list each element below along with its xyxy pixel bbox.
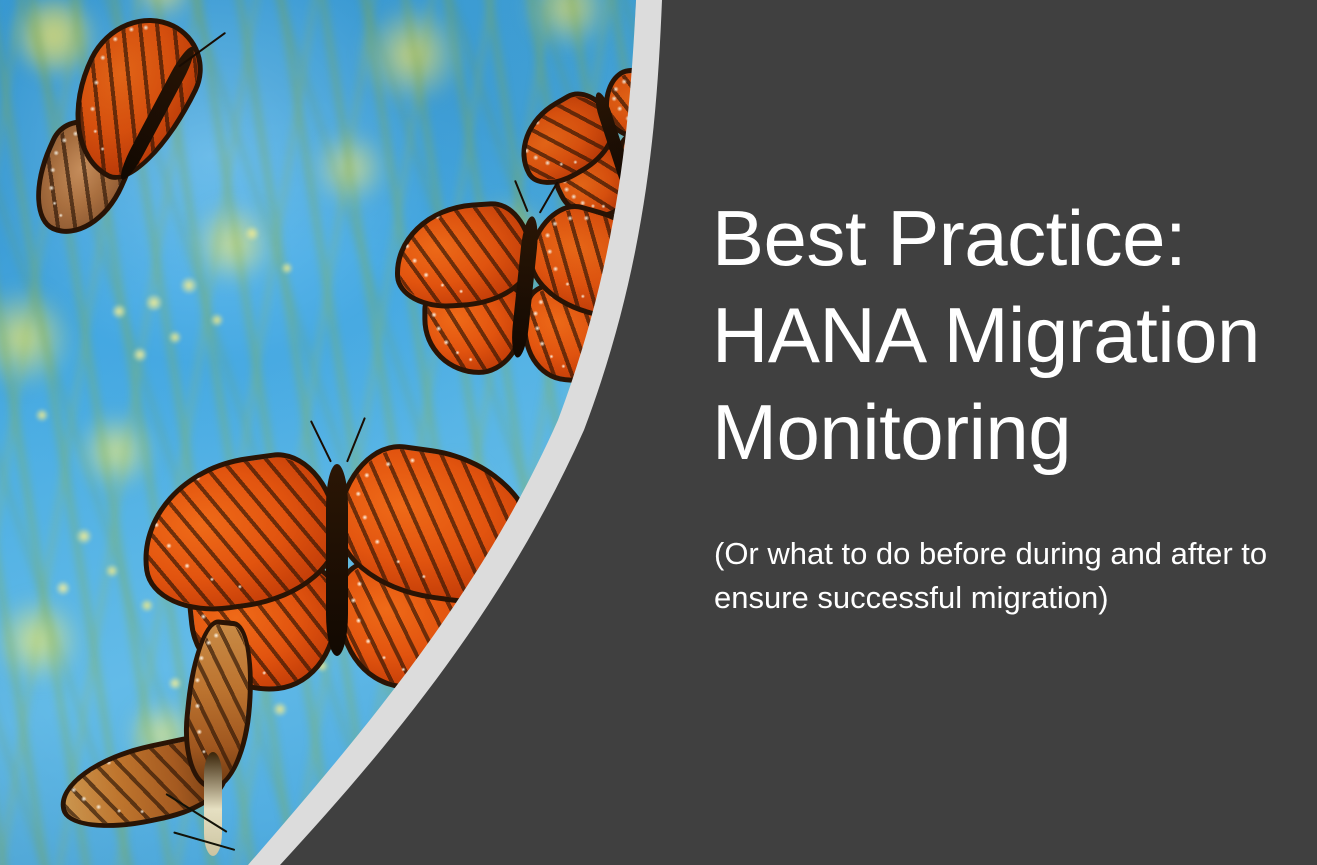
page-subtitle: (Or what to do before during and after t… (714, 532, 1274, 620)
wing-spots (396, 204, 532, 307)
monarch-butterfly-bottom-left-icon (58, 690, 288, 865)
butterfly-body (326, 464, 348, 656)
page-title: Best Practice: HANA Migration Monitoring (712, 190, 1312, 481)
butterfly-photo (0, 0, 700, 865)
title-panel: Best Practice: HANA Migration Monitoring… (660, 0, 1317, 865)
title-slide: Best Practice: HANA Migration Monitoring… (0, 0, 1317, 865)
monarch-butterfly-upper-right-icon (381, 186, 669, 403)
